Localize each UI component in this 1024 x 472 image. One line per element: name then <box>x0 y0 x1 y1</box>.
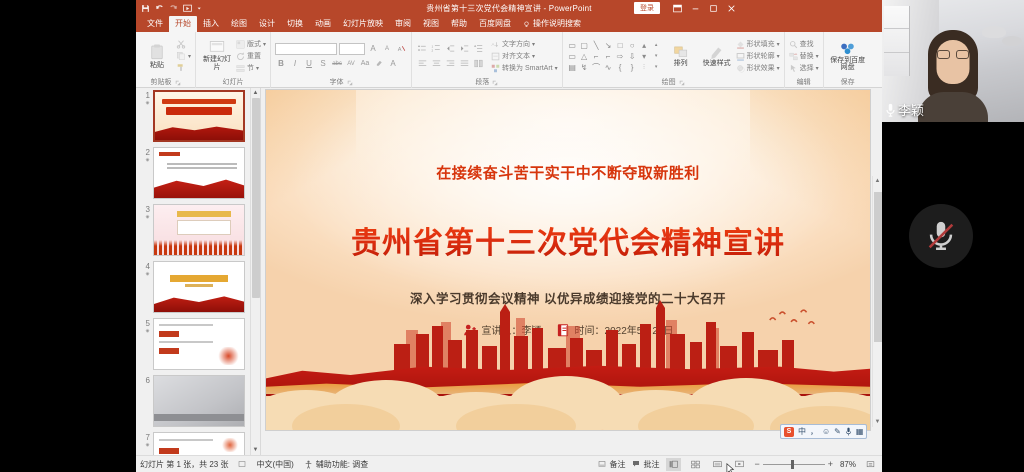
align-left-icon <box>418 59 427 68</box>
text-highlight-button[interactable] <box>373 58 385 70</box>
tell-me-label: 操作说明搜索 <box>533 18 581 30</box>
shape-gallery-expand-icon[interactable]: ▾ <box>651 62 662 72</box>
thumbnail-number: 5 <box>146 319 150 328</box>
video-conference-panel: 李颖 <box>882 0 1024 472</box>
align-center-button[interactable] <box>430 58 442 70</box>
align-text-button[interactable]: 对齐文本▾ <box>491 51 558 61</box>
slide-corner-left-decor <box>266 90 356 210</box>
replace-button[interactable]: 替换▾ <box>789 51 819 61</box>
text-direction-icon: A <box>491 40 500 49</box>
find-icon <box>789 40 798 49</box>
notes-button[interactable]: 备注 <box>598 459 625 470</box>
participant-figure <box>918 26 988 122</box>
reading-view-button[interactable] <box>710 458 725 471</box>
align-right-button[interactable] <box>444 58 456 70</box>
zoom-in-button[interactable]: + <box>828 459 833 469</box>
ribbon-group-editing: 查找 替换▾ 选择▾ 编辑 <box>785 32 824 88</box>
strikethrough-button[interactable]: abc <box>331 58 343 70</box>
zoom-slider[interactable]: − + <box>754 459 833 469</box>
justify-icon <box>460 59 469 68</box>
shape-curve-icon[interactable]: ⌐ <box>591 51 602 61</box>
replace-icon <box>789 52 798 61</box>
shadow-icon: S <box>320 59 325 68</box>
slide-vertical-scrollbar[interactable]: ▲ ▼ <box>872 176 882 427</box>
decrease-indent-icon <box>446 44 455 53</box>
shape-oval-icon[interactable]: ○ <box>627 40 638 50</box>
scroll-down-icon[interactable]: ▼ <box>873 417 882 427</box>
shapes-gallery[interactable]: ▭ ▢ ╲ ↘ □ ○ ▴ ▴ ▭ △ ⌐ ⌐ ⇨ ⇩ ▾ <box>567 40 662 72</box>
new-slide-button[interactable]: 新建幻灯片 <box>200 40 234 72</box>
window-title: 贵州省第十三次党代会精神宣讲 - PowerPoint <box>136 3 882 14</box>
ribbon-group-slides: 新建幻灯片 版式▾ 重置 节▾ <box>196 32 271 88</box>
bullets-button[interactable] <box>416 43 428 55</box>
status-bar: 幻灯片 第 1 张，共 23 张 中文(中国) 辅助功能: 调查 备注 批注 <box>136 455 882 472</box>
tab-baiduwangpan[interactable]: 百度网盘 <box>473 16 517 32</box>
layout-icon <box>236 40 245 49</box>
convert-to-smartart-button[interactable]: 转换为 SmartArt▾ <box>491 63 558 73</box>
comments-button[interactable]: 批注 <box>632 459 659 470</box>
reading-view-icon <box>713 460 722 469</box>
group-label-font: 字体 <box>330 78 344 88</box>
arrange-button[interactable]: 排列 <box>664 45 698 68</box>
bold-icon: B <box>278 59 284 68</box>
numbering-button[interactable]: 12 <box>430 43 442 55</box>
justify-button[interactable] <box>458 58 470 70</box>
voice-input-icon[interactable] <box>845 427 852 436</box>
font-color-button[interactable]: A <box>387 58 399 70</box>
columns-button[interactable] <box>472 58 484 70</box>
close-icon[interactable] <box>722 0 740 16</box>
thumbnail-preview <box>153 90 245 142</box>
slide-headline: 在接续奋斗苦干实干中不断夺取新胜利 <box>266 162 870 183</box>
undo-icon[interactable] <box>155 4 164 13</box>
copy-button[interactable]: ▾ <box>176 51 191 61</box>
line-spacing-icon <box>474 44 483 53</box>
svg-text:1: 1 <box>432 44 434 48</box>
thumbnail-number: 4 <box>146 262 150 271</box>
sogou-ime-toolbar[interactable]: S 中 ， ☺ ✎ ▦ <box>780 424 867 439</box>
punctuation-icon[interactable]: ， <box>810 426 818 437</box>
change-case-button[interactable]: Aa <box>359 58 371 70</box>
sogou-logo-icon[interactable]: S <box>784 427 794 437</box>
dialog-launcher-icon[interactable] <box>492 80 498 86</box>
slide-sorter-icon <box>691 460 700 469</box>
arrange-label: 排列 <box>674 60 688 68</box>
thumbnail-preview <box>153 432 245 455</box>
shape-brace-left-icon[interactable]: { <box>615 62 626 72</box>
shape-effects-icon <box>736 64 745 73</box>
thumbnail-slide-7[interactable]: 7✷ <box>138 432 246 455</box>
paste-button[interactable]: 粘贴 <box>140 43 174 70</box>
normal-view-button[interactable] <box>666 458 681 471</box>
shape-arrow3-icon[interactable]: ⇩ <box>627 51 638 61</box>
ribbon-group-drawing: ▭ ▢ ╲ ↘ □ ○ ▴ ▴ ▭ △ ⌐ ⌐ ⇨ ⇩ ▾ <box>563 32 785 88</box>
text-direction-label: 文字方向 <box>502 39 530 49</box>
ribbon-display-options-icon[interactable] <box>668 0 686 16</box>
character-spacing-button[interactable]: AV <box>345 58 357 70</box>
thumbnail-slide-2[interactable]: 2✷ <box>138 147 246 199</box>
save-icon[interactable] <box>141 4 150 13</box>
align-center-icon <box>432 59 441 68</box>
accessibility-icon <box>304 460 313 469</box>
thumbnail-number: 3 <box>146 205 150 214</box>
participant-name: 李颖 <box>898 100 924 119</box>
reset-button[interactable]: 重置 <box>236 51 266 61</box>
increase-indent-button[interactable] <box>458 43 470 55</box>
thumbnail-slide-6[interactable]: 6 <box>138 375 246 427</box>
tab-shitu[interactable]: 视图 <box>417 16 445 32</box>
thumbnail-preview <box>153 318 245 370</box>
svg-text:2: 2 <box>432 49 434 53</box>
tab-wenjian[interactable]: 文件 <box>141 16 169 32</box>
fit-to-window-icon <box>866 460 875 469</box>
clouds-decor <box>266 360 870 430</box>
slide-title: 贵州省第十三次党代会精神宣讲 <box>266 218 870 262</box>
text-shadow-button[interactable]: S <box>317 58 329 70</box>
animation-star-icon: ✷ <box>138 214 150 223</box>
tab-qiehuan[interactable]: 切换 <box>281 16 309 32</box>
font-name-input[interactable] <box>275 43 337 55</box>
scroll-up-icon[interactable]: ▲ <box>251 88 260 98</box>
select-label: 选择 <box>800 63 814 73</box>
select-icon <box>789 64 798 73</box>
align-right-icon <box>446 59 455 68</box>
convert-to-smartart-label: 转换为 SmartArt <box>502 63 553 73</box>
quick-styles-icon <box>709 45 725 59</box>
svg-text:A: A <box>491 42 495 48</box>
thumbnail-preview <box>153 375 245 427</box>
font-size-input[interactable] <box>339 43 365 55</box>
shape-gallery-more-icon[interactable]: ⋮ <box>639 62 650 72</box>
underline-icon: U <box>306 59 312 68</box>
tab-sheji[interactable]: 设计 <box>253 16 281 32</box>
copy-icon <box>176 51 186 61</box>
section-icon <box>236 64 245 73</box>
shape-line-icon[interactable]: ╲ <box>591 40 602 50</box>
shape-outline-button[interactable]: 形状轮廓▾ <box>736 51 780 61</box>
slide-thumbnail-panel: 1✷ 2✷ <box>136 88 261 455</box>
animation-star-icon: ✷ <box>138 157 150 166</box>
scroll-down-icon[interactable]: ▼ <box>251 445 260 455</box>
new-slide-icon <box>208 40 226 55</box>
shape-triangle-icon[interactable]: △ <box>579 51 590 61</box>
thumbnail-slide-3[interactable]: 3✷ <box>138 204 246 256</box>
language-label[interactable]: 中文(中国) <box>256 459 293 470</box>
tell-me-search[interactable]: 操作说明搜索 <box>517 16 587 32</box>
group-label-save: 保存 <box>841 78 855 88</box>
format-painter-icon <box>176 63 186 73</box>
slide-canvas[interactable]: 在接续奋斗苦干实干中不断夺取新胜利 贵州省第十三次党代会精神宣讲 深入学习贯彻会… <box>266 90 870 430</box>
spell-check-icon[interactable] <box>238 460 246 468</box>
increase-indent-icon <box>460 44 469 53</box>
shape-effects-button[interactable]: 形状效果▾ <box>736 63 780 73</box>
paste-label: 粘贴 <box>150 62 164 70</box>
animation-star-icon: ✷ <box>138 271 150 280</box>
dialog-launcher-icon[interactable] <box>347 80 353 86</box>
shape-fill-icon <box>736 40 745 49</box>
shape-effects-label: 形状效果 <box>747 63 775 73</box>
baidu-netdisk-icon <box>839 41 856 56</box>
slide-count-label: 幻灯片 第 1 张，共 23 张 <box>140 459 228 470</box>
shape-textbox-icon[interactable]: ▤ <box>567 62 578 72</box>
accessibility-status[interactable]: 辅助功能: 调查 <box>304 459 368 470</box>
chinese-mode-icon[interactable]: 中 <box>798 426 806 437</box>
quick-styles-button[interactable]: 快速样式 <box>700 45 734 68</box>
svg-text:A: A <box>397 47 401 53</box>
start-slideshow-icon[interactable] <box>183 4 192 13</box>
shape-arrow-icon[interactable]: ↘ <box>603 40 614 50</box>
tab-bangzhu[interactable]: 帮助 <box>445 16 473 32</box>
line-spacing-button[interactable] <box>472 43 484 55</box>
ribbon-tabs: 文件 开始 插入 绘图 设计 切换 动画 幻灯片放映 审阅 视图 帮助 百度网盘… <box>136 16 882 32</box>
scroll-thumb[interactable] <box>874 192 882 342</box>
redo-icon[interactable] <box>169 4 178 13</box>
shape-arrow2-icon[interactable]: ⇨ <box>615 51 626 61</box>
shape-more-icon[interactable]: ▾ <box>651 51 662 61</box>
group-label-editing: 编辑 <box>797 78 811 88</box>
powerpoint-window: 贵州省第十三次党代会精神宣讲 - PowerPoint 登录 文件 <box>136 0 882 472</box>
animation-star-icon: ✷ <box>138 328 150 337</box>
status-bar-right: 备注 批注 − <box>598 458 878 471</box>
group-label-paragraph: 段落 <box>475 78 489 88</box>
shape-outline-label: 形状轮廓 <box>747 51 775 61</box>
mute-toggle-button[interactable] <box>909 204 973 268</box>
highlight-icon <box>375 59 384 68</box>
cut-icon <box>176 39 186 49</box>
animation-star-icon: ✷ <box>138 442 150 451</box>
section-button[interactable]: 节▾ <box>236 63 266 73</box>
tab-shenyue[interactable]: 审阅 <box>389 16 417 32</box>
quick-styles-label: 快速样式 <box>703 60 731 68</box>
video-window-frame <box>884 6 910 76</box>
save-to-baidu-label: 保存到百度网盘 <box>828 57 868 71</box>
tab-huitu[interactable]: 绘图 <box>225 16 253 32</box>
accessibility-label: 辅助功能: 调查 <box>316 459 368 470</box>
ribbon-group-save: 保存到百度网盘 保存 <box>824 32 872 88</box>
find-button[interactable]: 查找 <box>789 39 819 49</box>
title-bar: 贵州省第十三次党代会精神宣讲 - PowerPoint 登录 <box>136 0 882 16</box>
ribbon-group-paragraph: 12 <box>412 32 563 88</box>
scroll-up-icon[interactable]: ▲ <box>873 176 882 186</box>
dialog-launcher-icon[interactable] <box>679 80 685 86</box>
tab-huandengpianfangying[interactable]: 幻灯片放映 <box>337 16 389 32</box>
tab-charu[interactable]: 插入 <box>197 16 225 32</box>
microphone-muted-icon <box>924 219 958 253</box>
participant-glasses <box>937 50 969 59</box>
handwriting-icon[interactable]: ✎ <box>834 427 841 436</box>
participant-body <box>918 92 988 122</box>
participant-face <box>937 40 970 84</box>
shape-curve2-icon[interactable]: ∿ <box>603 62 614 72</box>
zoom-handle[interactable] <box>791 460 794 469</box>
columns-icon <box>474 59 483 68</box>
new-slide-label: 新建幻灯片 <box>200 56 234 72</box>
decrease-indent-button[interactable] <box>444 43 456 55</box>
shape-freeform-icon[interactable]: ↯ <box>579 62 590 72</box>
shape-brace-right-icon[interactable]: } <box>627 62 638 72</box>
format-painter-button[interactable] <box>176 63 191 73</box>
reset-icon <box>236 52 245 61</box>
thumbnail-slide-1[interactable]: 1✷ <box>138 90 246 142</box>
shape-arc-icon[interactable]: ⌒ <box>591 62 602 72</box>
tab-donghua[interactable]: 动画 <box>309 16 337 32</box>
slideshow-icon <box>735 460 744 469</box>
font-color-icon: A <box>390 59 395 68</box>
work-area: 1✷ 2✷ <box>136 88 882 455</box>
emoji-icon[interactable]: ☺ <box>822 427 830 436</box>
ribbon: 粘贴 ▾ 剪贴板 <box>136 32 882 88</box>
arrange-icon <box>673 45 689 59</box>
decrease-font-size-button[interactable]: A <box>381 43 393 55</box>
window-controls: 登录 <box>634 0 740 16</box>
normal-view-icon <box>669 460 678 469</box>
save-to-baidu-netdisk-button[interactable]: 保存到百度网盘 <box>828 41 868 71</box>
ribbon-group-clipboard: 粘贴 ▾ 剪贴板 <box>136 32 196 88</box>
customize-qat-icon[interactable] <box>197 4 202 13</box>
align-text-label: 对齐文本 <box>502 51 530 61</box>
fit-to-window-button[interactable] <box>863 458 878 471</box>
clear-formatting-button[interactable]: A <box>395 43 407 55</box>
tab-kaishi[interactable]: 开始 <box>169 16 197 32</box>
shape-fill-label: 形状填充 <box>747 39 775 49</box>
shape-rounded-rect-icon[interactable]: ▢ <box>579 40 590 50</box>
cut-button[interactable] <box>176 39 191 49</box>
shape-elbow-icon[interactable]: ⌐ <box>603 51 614 61</box>
thumbnail-number: 6 <box>146 376 150 385</box>
italic-button[interactable]: I <box>289 58 301 70</box>
convert-to-smartart-icon <box>491 64 500 73</box>
scroll-thumb[interactable] <box>252 98 260 298</box>
align-left-button[interactable] <box>416 58 428 70</box>
slide-canvas-area: 在接续奋斗苦干实干中不断夺取新胜利 贵州省第十三次党代会精神宣讲 深入学习贯彻会… <box>261 88 882 455</box>
animation-star-icon: ✷ <box>138 100 150 109</box>
zoom-level-label[interactable]: 87% <box>840 460 856 469</box>
shape-fill-button[interactable]: 形状填充▾ <box>736 39 780 49</box>
thumbnail-number: 7 <box>146 433 150 442</box>
thumbnail-slide-5[interactable]: 5✷ <box>138 318 246 370</box>
character-spacing-icon: AV <box>347 61 355 67</box>
layout-button[interactable]: 版式▾ <box>236 39 266 49</box>
thumbnail-number: 1 <box>146 91 150 100</box>
participant-video-tile[interactable]: 李颖 <box>882 0 1024 122</box>
shape-square-icon[interactable]: □ <box>615 40 626 50</box>
zoom-track[interactable] <box>763 464 825 465</box>
underline-button[interactable]: U <box>303 58 315 70</box>
increase-font-size-button[interactable]: A <box>367 43 379 55</box>
shape-rect2-icon[interactable]: ▭ <box>567 51 578 61</box>
bold-button[interactable]: B <box>275 58 287 70</box>
strikethrough-icon: abc <box>332 61 342 67</box>
comments-icon <box>632 460 640 468</box>
toolbox-icon[interactable]: ▦ <box>856 427 864 436</box>
thumbnail-preview <box>153 147 245 199</box>
section-label: 节 <box>247 63 254 73</box>
notes-icon <box>598 460 606 468</box>
slide-sorter-button[interactable] <box>688 458 703 471</box>
replace-label: 替换 <box>800 51 814 61</box>
restore-icon[interactable] <box>704 0 722 16</box>
group-label-clipboard: 剪贴板 <box>151 78 172 88</box>
paste-icon <box>148 43 166 61</box>
participant-name-badge: 李颖 <box>885 100 924 119</box>
ribbon-group-font: A A A B I U S abc AV <box>271 32 412 88</box>
reset-label: 重置 <box>247 51 261 61</box>
align-text-icon <box>491 52 500 61</box>
group-label-slides: 幻灯片 <box>223 78 244 88</box>
microphone-icon <box>885 103 896 117</box>
thumbnail-number: 2 <box>146 148 150 157</box>
thumbnail-slide-4[interactable]: 4✷ <box>138 261 246 313</box>
shape-more-up-icon[interactable]: ▴ <box>651 40 662 50</box>
thumbnail-scrollbar[interactable]: ▲ ▼ <box>250 88 260 455</box>
shape-rect-icon[interactable]: ▭ <box>567 40 578 50</box>
lightbulb-icon <box>523 21 530 28</box>
mouse-cursor <box>726 463 735 472</box>
bullets-icon <box>417 44 427 53</box>
find-label: 查找 <box>800 39 814 49</box>
thumbnail-preview <box>153 261 245 313</box>
thumbnail-preview <box>153 204 245 256</box>
shape-scroll-up-icon[interactable]: ▴ <box>639 40 650 50</box>
slide-thumbnail-list: 1✷ 2✷ <box>136 88 250 455</box>
video-lamp-2 <box>1002 36 1022 46</box>
italic-icon: I <box>294 59 296 68</box>
shape-outline-icon <box>736 52 745 61</box>
select-button[interactable]: 选择▾ <box>789 63 819 73</box>
screen: 贵州省第十三次党代会精神宣讲 - PowerPoint 登录 文件 <box>0 0 1024 472</box>
minimize-icon[interactable] <box>686 0 704 16</box>
quick-access-toolbar <box>136 4 202 13</box>
shape-scroll-down-icon[interactable]: ▾ <box>639 51 650 61</box>
group-label-drawing: 绘图 <box>662 78 676 88</box>
layout-label: 版式 <box>247 39 261 49</box>
text-direction-button[interactable]: A 文字方向▾ <box>491 39 558 49</box>
dialog-launcher-icon[interactable] <box>175 80 181 86</box>
comments-label: 批注 <box>643 459 659 470</box>
change-case-icon: Aa <box>361 60 370 67</box>
notes-label: 备注 <box>609 459 625 470</box>
signin-button[interactable]: 登录 <box>634 2 660 14</box>
numbering-icon: 12 <box>431 44 441 53</box>
zoom-out-button[interactable]: − <box>754 459 759 469</box>
